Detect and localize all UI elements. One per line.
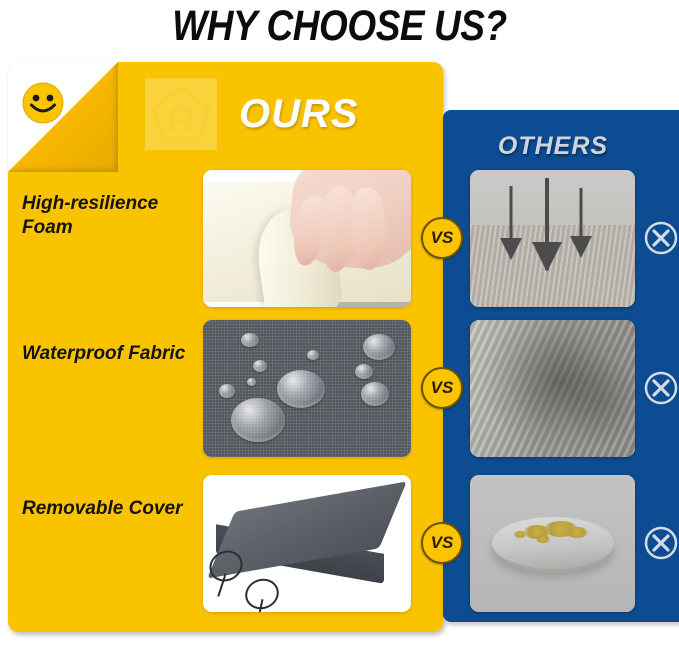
ours-heading: OURS xyxy=(239,92,359,137)
ours-photo-foam: Hand pressing resilient cream foam slab xyxy=(203,170,411,307)
circled-x-icon xyxy=(643,220,679,256)
others-photo-compressed: Downward arrows compressing flattened gr… xyxy=(470,170,635,307)
vs-badge-waterproof: VS xyxy=(421,367,463,409)
others-photo-soaked: Soaked blotchy gray fabric absorbing wat… xyxy=(470,320,635,457)
ours-photo-waterproof: Water droplets beading on dark gray text… xyxy=(203,320,411,457)
others-photo-stained-cushion: Stained round light gray cushion with ye… xyxy=(470,475,635,612)
vs-badge-removable-cover: VS xyxy=(421,522,463,564)
feature-label-foam: High-resilience Foam xyxy=(22,192,197,241)
vs-badge-foam: VS xyxy=(421,217,463,259)
feature-label-waterproof: Waterproof Fabric xyxy=(22,342,197,366)
ours-header: OURS xyxy=(145,74,435,154)
house-pentagon-logo-icon xyxy=(145,78,217,150)
page-peel-corner xyxy=(8,62,118,172)
ours-photo-cushion: Dark gray square seat cushion with remov… xyxy=(203,475,411,612)
circled-x-icon xyxy=(643,370,679,406)
circled-x-icon xyxy=(643,525,679,561)
others-heading: OTHERS xyxy=(443,132,663,161)
smiley-face-icon xyxy=(22,82,64,124)
feature-label-removable-cover: Removable Cover xyxy=(22,497,197,521)
page-title: WHY CHOOSE US? xyxy=(48,2,632,51)
